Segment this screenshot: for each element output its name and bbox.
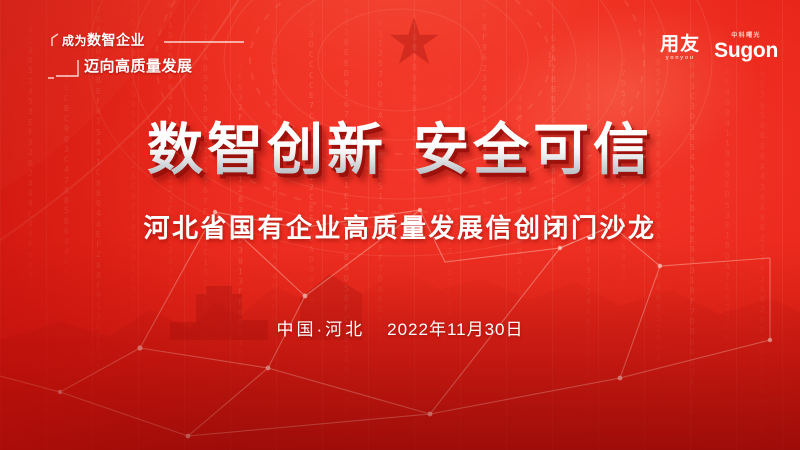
yonyou-logo: 用友 yonyou [660, 35, 700, 62]
title-part-2: 安全可信 [413, 118, 653, 181]
event-date: 2022年11月30日 [387, 320, 523, 339]
slogan-line-1-prefix: 成为 [62, 34, 87, 48]
event-location: 中国·河北 [276, 320, 365, 339]
corporate-slogan: 成为数智企业 迈向高质量发展 [48, 26, 248, 86]
event-banner: 0 9 0 C A D 5 2 4 5 3 E F 9 2 B 2 A 0 9 … [0, 0, 800, 450]
sponsor-logos: 用友 yonyou 中科曙光 Sugon [660, 33, 778, 61]
yonyou-logo-zh: 用友 [660, 35, 700, 54]
sugon-logo-en: Sugon [714, 40, 778, 61]
sugon-logo: 中科曙光 Sugon [714, 33, 778, 61]
page-subtitle: 河北省国有企业高质量发展信创闭门沙龙 [0, 208, 800, 245]
slogan-line-2: 迈向高质量发展 [84, 55, 193, 76]
slogan-line-1-main: 数智企业 [87, 32, 145, 48]
event-meta: 中国·河北2022年11月30日 [0, 315, 800, 340]
page-title: 数智创新安全可信 [0, 122, 800, 178]
yonyou-logo-en: yonyou [660, 56, 700, 62]
title-part-1: 数智创新 [147, 118, 387, 181]
slogan-line-1: 成为数智企业 [62, 30, 145, 50]
